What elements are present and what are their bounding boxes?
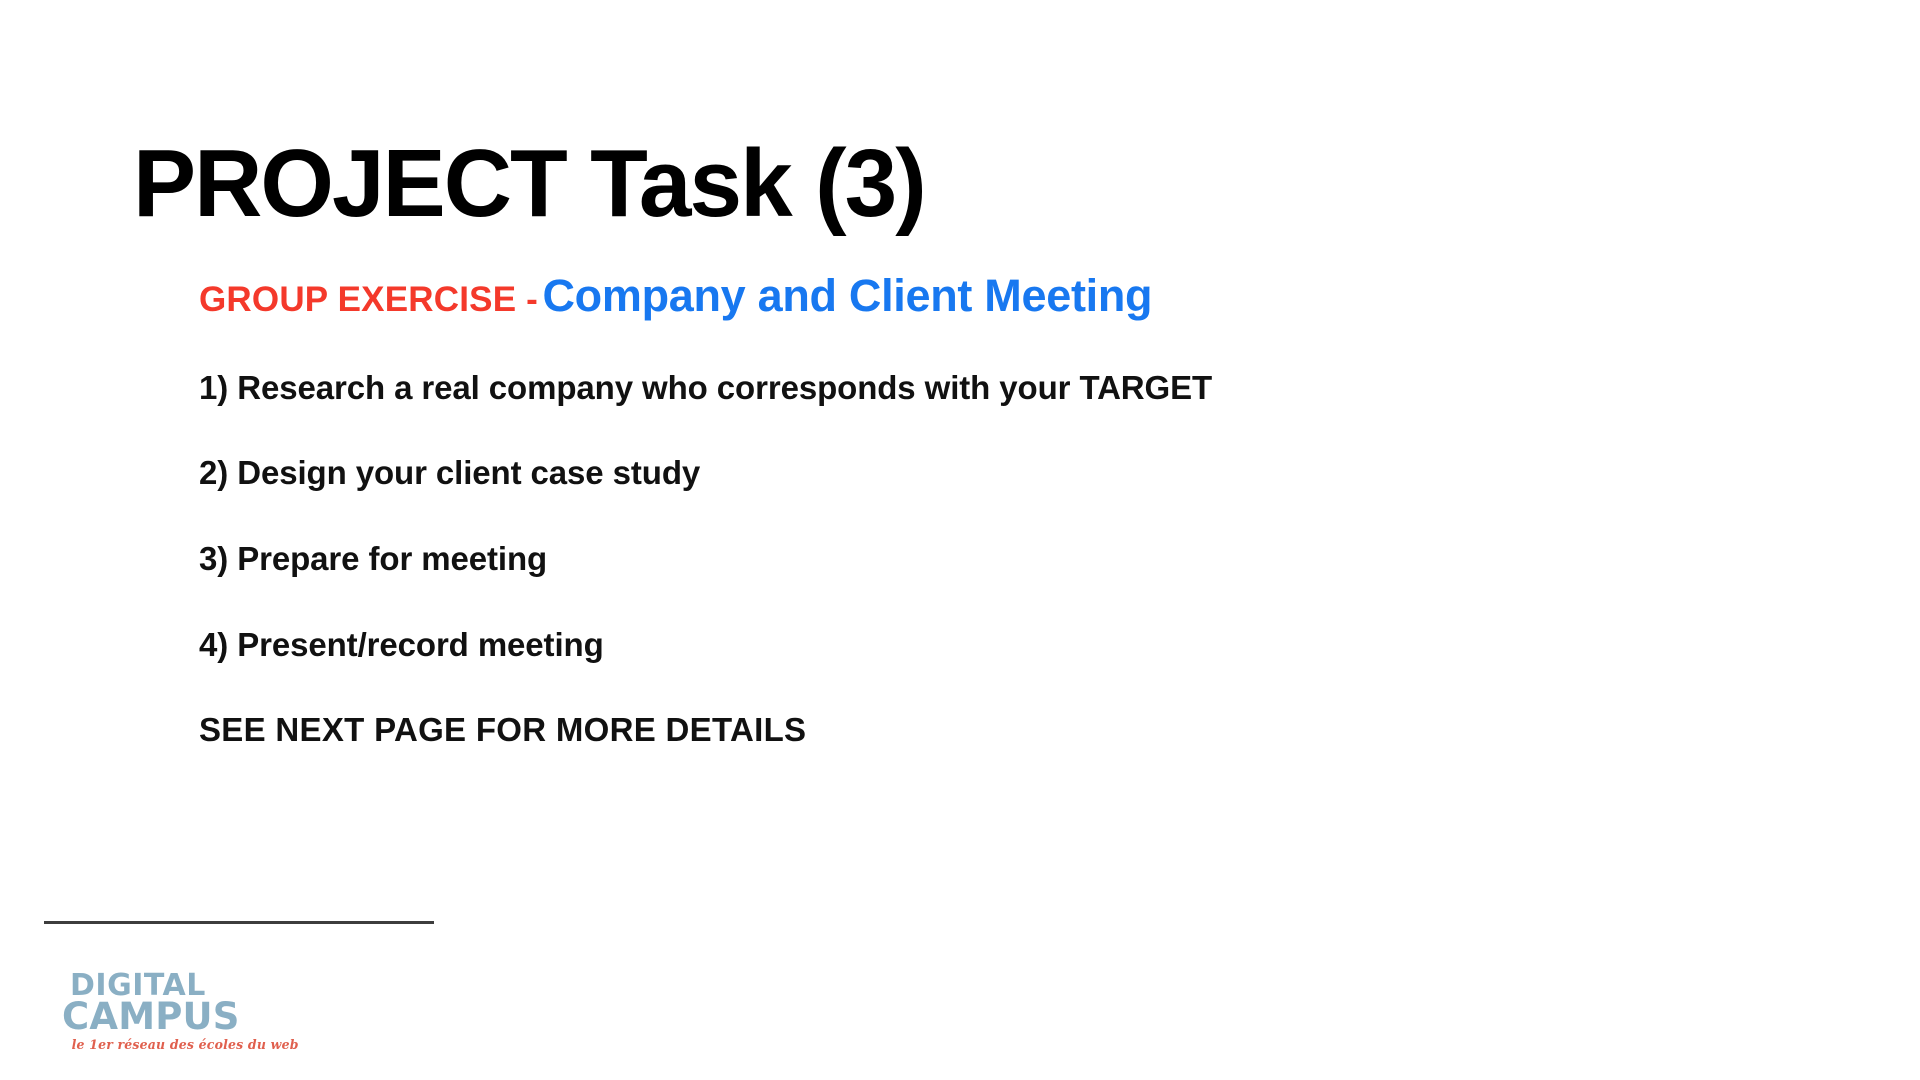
task-item-4: 4) Present/record meeting <box>199 625 1859 665</box>
slide-body: GROUP EXERCISE - Company and Client Meet… <box>199 270 1859 750</box>
task-item-2: 2) Design your client case study <box>199 453 1859 493</box>
logo-word-campus: CAMPUS <box>62 1000 252 1034</box>
slide: PROJECT Task (3) GROUP EXERCISE - Compan… <box>0 0 1920 1080</box>
logo-tagline: le 1er réseau des écoles du web <box>62 1038 244 1053</box>
task-item-3: 3) Prepare for meeting <box>199 539 1859 579</box>
digital-campus-logo: DIGITAL CAMPUS le 1er réseau des écoles … <box>62 972 252 1053</box>
subheading-headline: Company and Client Meeting <box>542 270 1152 321</box>
subheading-eyebrow: GROUP EXERCISE - <box>199 280 538 319</box>
page-title: PROJECT Task (3) <box>133 132 925 236</box>
section-subheading: GROUP EXERCISE - Company and Client Meet… <box>199 270 1859 322</box>
task-item-1: 1) Research a real company who correspon… <box>199 368 1859 408</box>
closing-note: SEE NEXT PAGE FOR MORE DETAILS <box>199 710 1859 750</box>
footer-divider <box>44 921 434 924</box>
